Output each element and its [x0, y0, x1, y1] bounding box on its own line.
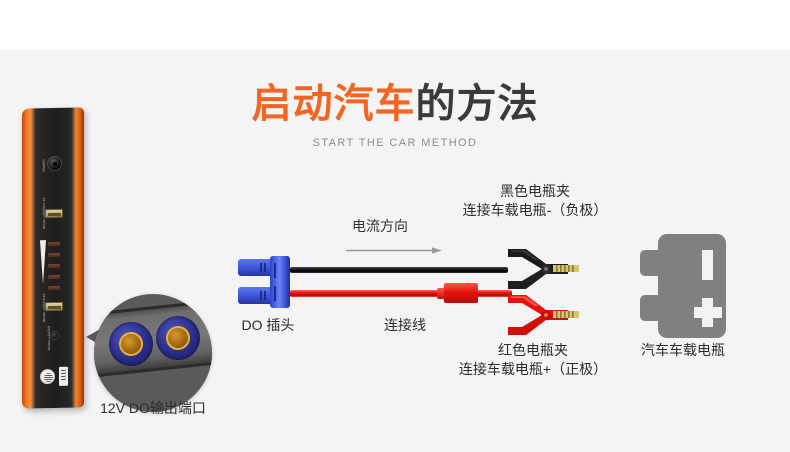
car-battery-caption: 汽车车载电瓶	[620, 341, 746, 360]
battery-plus-symbol-vertical	[702, 298, 713, 327]
device-front-panel: POWER Output USB5V/2.1A Output USB5V/1A …	[34, 112, 72, 405]
battery-terminal-top	[640, 250, 660, 276]
plug-prong-bottom	[238, 287, 274, 304]
black-wire	[290, 267, 508, 273]
led-indicator-5	[48, 286, 60, 290]
red-clamp-caption-line2: 连接车载电瓶+（正极）	[428, 360, 638, 379]
current-direction-label: 电流方向	[352, 216, 408, 236]
red-wire	[290, 290, 512, 297]
red-clamp-caption: 红色电瓶夹 连接车载电瓶+（正极）	[428, 341, 638, 379]
title-subtitle: START THE CAR METHOD	[0, 137, 790, 149]
do-output-port-magnifier	[94, 294, 212, 412]
plug-body	[270, 256, 290, 308]
red-clamp-caption-line1: 红色电瓶夹	[428, 341, 638, 360]
battery-minus-symbol	[702, 250, 713, 280]
battery-body	[658, 234, 726, 338]
top-white-band	[0, 0, 790, 50]
plug-prong-top	[238, 259, 274, 276]
red-battery-clamp	[506, 293, 582, 337]
led-indicator-2	[48, 253, 60, 257]
title-main-line: 启动汽车的方法	[0, 80, 790, 128]
black-clamp-caption: 黑色电瓶夹 连接车载电瓶-（负极）	[430, 182, 640, 220]
usb-port-1-icon	[45, 209, 63, 218]
connecting-wire-caption: 连接线	[360, 316, 450, 335]
do-plug-connector	[238, 256, 296, 308]
led-indicator-1	[48, 242, 60, 246]
infographic-page: 启动汽车的方法 START THE CAR METHOD POWER Outpu…	[0, 0, 790, 452]
battery-terminal-bottom	[640, 295, 660, 321]
jump-starter-device: POWER Output USB5V/2.1A Output USB5V/1A …	[22, 108, 84, 408]
car-battery-icon	[640, 234, 726, 338]
black-battery-clamp	[506, 247, 582, 291]
recycle-badge-icon	[59, 367, 68, 386]
dc-power-jack-icon	[47, 156, 62, 171]
battery-level-wedge-icon	[40, 240, 46, 284]
power-port-label: POWER	[42, 159, 46, 172]
do-plug-caption: DO 插头	[216, 316, 320, 335]
title-accent-text: 启动汽车	[252, 82, 416, 126]
page-title: 启动汽车的方法 START THE CAR METHOD	[0, 80, 790, 149]
led-indicator-3	[48, 264, 60, 268]
usb-port-2-icon	[45, 302, 63, 311]
do-output-jack-icon	[50, 331, 59, 340]
certification-badge-icon	[40, 369, 55, 384]
black-clamp-caption-line1: 黑色电瓶夹	[430, 182, 640, 201]
inline-fuse-connector	[444, 283, 478, 303]
title-rest-text: 的方法	[416, 82, 539, 126]
black-clamp-caption-line2: 连接车载电瓶-（负极）	[430, 201, 640, 220]
do-port-caption: 12V DO输出端口	[72, 399, 234, 418]
led-indicator-4	[48, 275, 60, 279]
current-direction-arrow-icon	[346, 241, 442, 248]
